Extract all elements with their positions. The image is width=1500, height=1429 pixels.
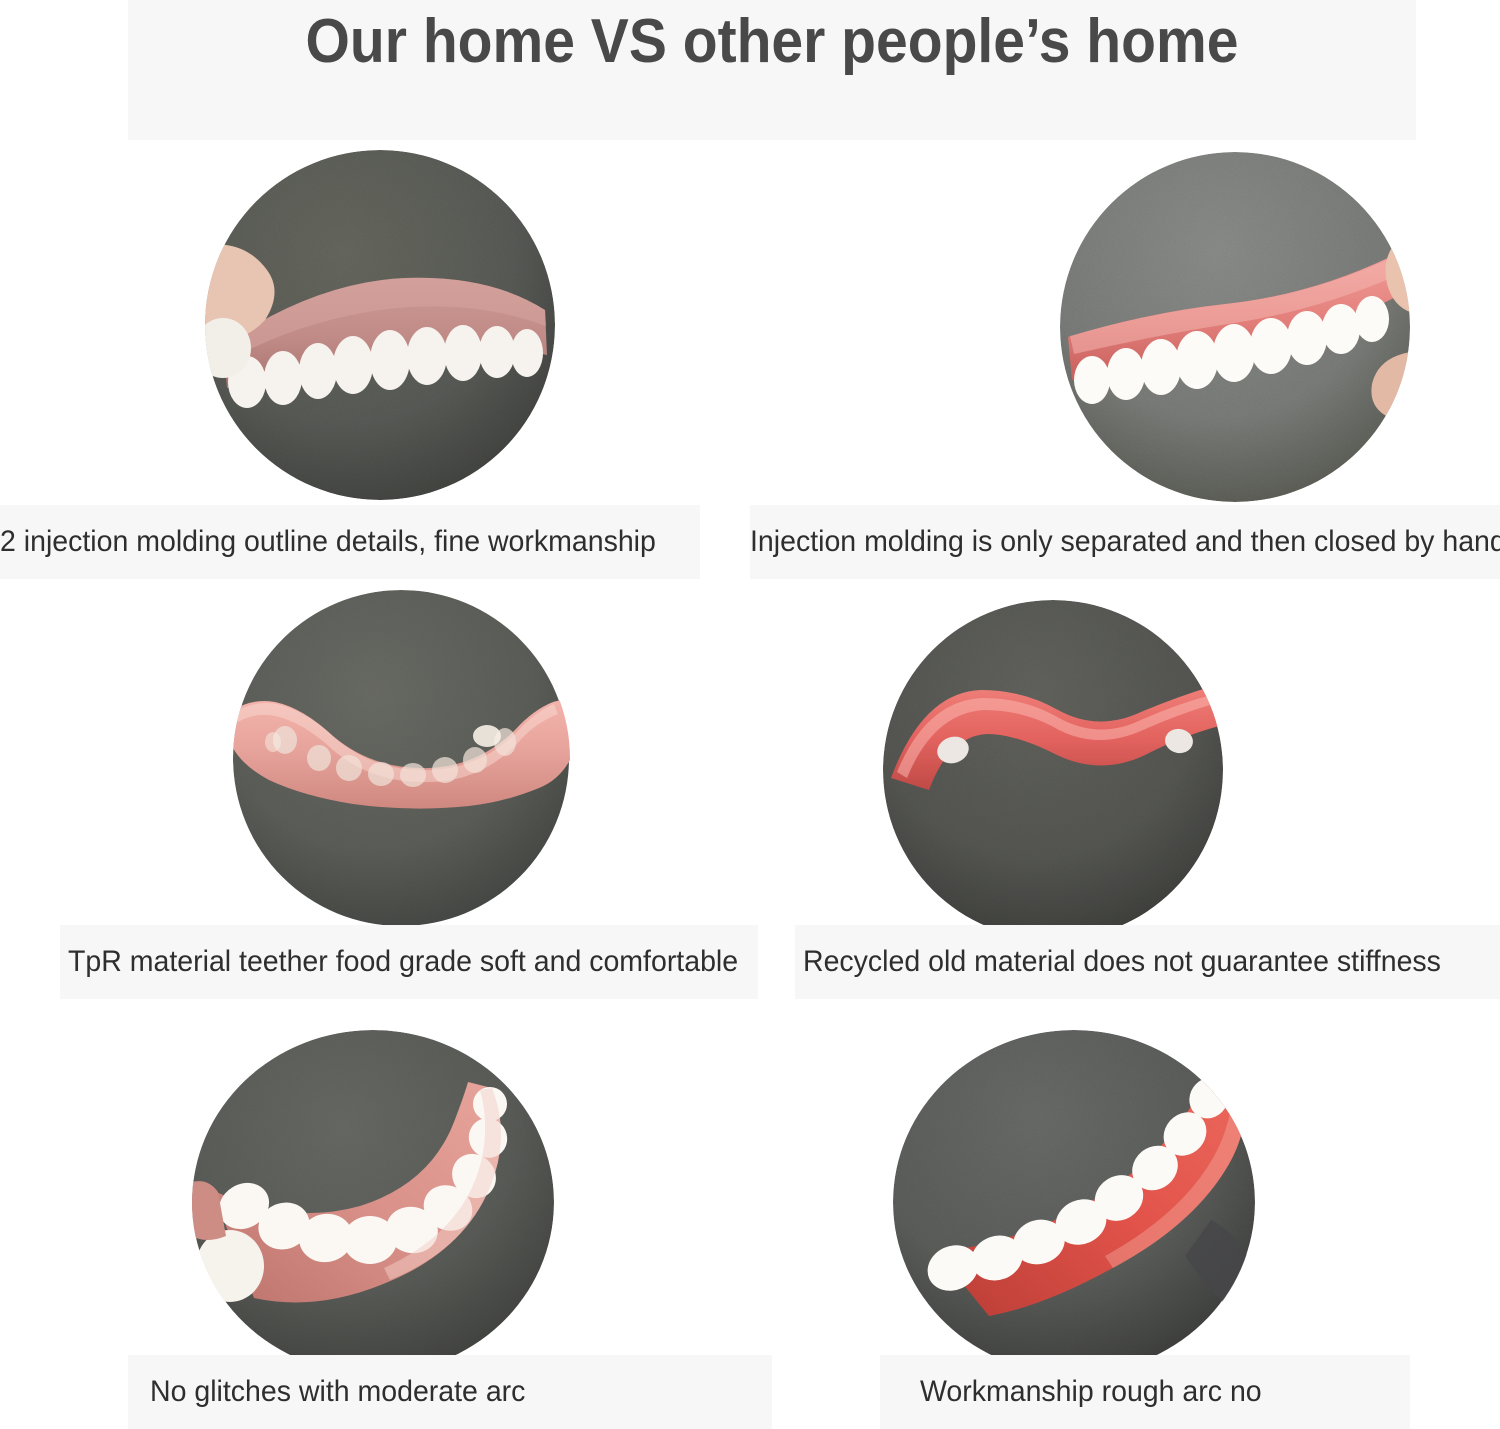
- veneer-angled-arc-rough-view-photo: [893, 1030, 1255, 1375]
- cell-other-home-3: Workmanship rough arc no: [750, 1025, 1500, 1418]
- veneer-front-view-rough-seam-photo: [1060, 152, 1410, 502]
- veneer-angled-arc-view-photo: [192, 1030, 554, 1375]
- caption-other-home-1: Injection molding is only separated and …: [750, 527, 1500, 557]
- caption-our-home-2: TpR material teether food grade soft and…: [68, 947, 738, 977]
- veneer-front-view-held-in-fingers-photo: [205, 150, 555, 500]
- caption-other-home-2: Recycled old material does not guarantee…: [803, 947, 1441, 977]
- page-title: Our home VS other people’s home: [180, 2, 1365, 82]
- veneer-thin-strip-view-photo: [883, 600, 1223, 940]
- cell-our-home-3: No glitches with moderate arc: [0, 1025, 750, 1418]
- caption-strip-our-home-2: TpR material teether food grade soft and…: [60, 925, 758, 999]
- veneer-inner-tray-view-photo: [233, 590, 570, 927]
- caption-strip-other-home-2: Recycled old material does not guarantee…: [795, 925, 1500, 999]
- caption-strip-our-home-1: 2 injection molding outline details, fin…: [0, 505, 700, 579]
- caption-strip-other-home-1: Injection molding is only separated and …: [750, 505, 1500, 579]
- comparison-row-3: No glitches with moderate arc: [0, 1025, 1500, 1418]
- cell-our-home-2: TpR material teether food grade soft and…: [0, 585, 750, 1010]
- caption-our-home-1: 2 injection molding outline details, fin…: [0, 527, 656, 557]
- cell-our-home-1: 2 injection molding outline details, fin…: [0, 145, 750, 565]
- caption-other-home-3: Workmanship rough arc no: [920, 1377, 1262, 1407]
- caption-our-home-3: No glitches with moderate arc: [150, 1377, 525, 1407]
- comparison-row-1: 2 injection molding outline details, fin…: [0, 145, 1500, 565]
- cell-other-home-1: Injection molding is only separated and …: [750, 145, 1500, 565]
- cell-other-home-2: Recycled old material does not guarantee…: [750, 585, 1500, 1010]
- comparison-row-2: TpR material teether food grade soft and…: [0, 585, 1500, 1010]
